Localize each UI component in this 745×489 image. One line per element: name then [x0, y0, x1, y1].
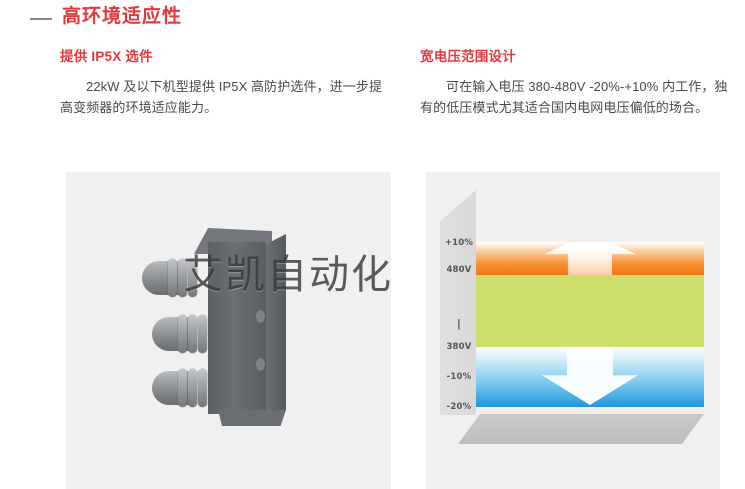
left-body-text: 22kW 及以下机型提供 IP5X 高防护选件，进一步提高变频器的环境适应能力。	[60, 76, 390, 118]
axis-label-380v: 380V	[442, 342, 476, 352]
arrow-down-icon	[542, 347, 638, 405]
gland-ring	[198, 369, 207, 407]
right-text-column: 宽电压范围设计 可在输入电压 380-480V -20%-+10% 内工作，独有…	[420, 48, 740, 118]
band-lower-blue	[476, 347, 704, 407]
gland-ring	[188, 315, 197, 353]
axis-label-midline: |	[442, 317, 476, 330]
cable-gland-icon	[152, 368, 218, 408]
right-sub-title: 宽电压范围设计	[420, 48, 740, 66]
watermark-text: 艾凯自动化	[183, 252, 393, 298]
band-nominal-green	[476, 275, 704, 347]
gland-ring	[178, 315, 187, 353]
voltage-bands	[476, 242, 704, 407]
right-body-text: 可在输入电压 380-480V -20%-+10% 内工作，独有的低压模式尤其适…	[420, 76, 740, 118]
product-bottom-face	[218, 410, 286, 426]
arrow-up-icon	[544, 242, 636, 275]
gland-ring	[188, 369, 197, 407]
left-image-panel	[66, 172, 391, 489]
gland-ring	[168, 259, 177, 297]
section-header: 高环境适应性	[0, 0, 745, 40]
page-root: 高环境适应性 提供 IP5X 选件 22kW 及以下机型提供 IP5X 高防护选…	[0, 0, 745, 489]
gland-ring	[178, 369, 187, 407]
left-sub-title: 提供 IP5X 选件	[60, 48, 390, 66]
voltage-range-diagram: +10% 480V | 380V -10% -20%	[440, 190, 710, 450]
gland-ring	[198, 315, 207, 353]
axis-label-plus-10: +10%	[442, 238, 476, 248]
band-upper-orange	[476, 242, 704, 275]
axis-label-minus-20: -20%	[442, 402, 476, 412]
page-title: 高环境适应性	[62, 4, 182, 30]
header-dash-icon	[30, 18, 52, 20]
diagram-base-plate	[458, 414, 704, 444]
axis-label-480v: 480V	[442, 265, 476, 275]
cable-gland-icon	[152, 314, 218, 354]
left-text-column: 提供 IP5X 选件 22kW 及以下机型提供 IP5X 高防护选件，进一步提高…	[60, 48, 390, 118]
axis-label-minus-10: -10%	[442, 372, 476, 382]
product-screw-hole	[256, 310, 265, 323]
product-screw-hole	[256, 358, 265, 371]
